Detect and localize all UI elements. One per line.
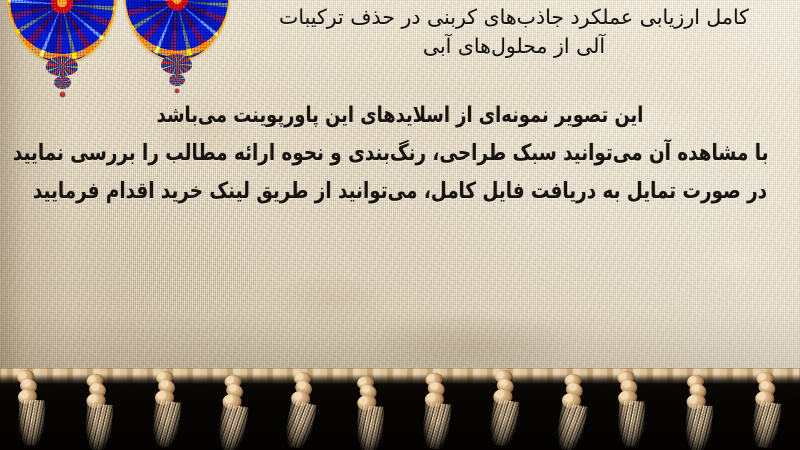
- fringe-tassel: [746, 369, 783, 450]
- slide-body-line-2: با مشاهده آن می‌توانید سبک طراحی، رنگ‌بن…: [32, 142, 769, 164]
- slide-title-line-2: آلی از محلول‌های آبی: [236, 32, 792, 61]
- slide-title-line-1: کامل ارزیابی عملکرد جاذب‌های کربنی در حذ…: [236, 3, 792, 32]
- fringe-tassel: [549, 370, 591, 450]
- slide-title: کامل ارزیابی عملکرد جاذب‌های کربنی در حذ…: [236, 3, 792, 61]
- slide-text-layer: کامل ارزیابی عملکرد جاذب‌های کربنی در حذ…: [0, 0, 800, 378]
- fringe-tassel: [77, 370, 117, 450]
- fringe-tassel: [212, 371, 252, 450]
- fringe-tassel-skirt: [150, 400, 181, 449]
- fringe-tassel-skirt: [487, 398, 520, 447]
- fringe-tassel: [417, 370, 454, 450]
- fringe-tassel-skirt: [553, 402, 588, 450]
- fringe-tassel-skirt: [282, 400, 317, 450]
- fringe-tassel: [147, 368, 183, 450]
- fringe-tassel-skirt: [618, 400, 646, 447]
- fringe-tassel: [608, 368, 650, 450]
- fringe-tassel-skirt: [18, 399, 45, 446]
- fringe-tassel-skirt: [749, 400, 781, 449]
- fringe-tassel-skirt: [355, 405, 384, 450]
- fringe-tassel-skirt: [421, 402, 452, 450]
- slide-body: این تصویر نمونه‌ای از اسلایدهای این پاور…: [8, 106, 792, 218]
- fringe-tassel: [278, 368, 322, 450]
- fringe-tassel: [347, 372, 388, 450]
- fringe-tassel: [484, 368, 523, 450]
- fringe-tassel-skirt: [84, 403, 113, 450]
- fringe-band: [0, 368, 800, 450]
- fringe-tassel: [678, 371, 717, 450]
- slide-body-line-3: در صورت تمایل به دریافت فایل کامل، می‌تو…: [32, 179, 769, 201]
- fringe-tassel-skirt: [216, 403, 249, 450]
- slide-canvas: کامل ارزیابی عملکرد جاذب‌های کربنی در حذ…: [0, 0, 800, 450]
- slide-body-line-1: این تصویر نمونه‌ای از اسلایدهای این پاور…: [32, 105, 769, 127]
- fringe-tassel-skirt: [683, 404, 713, 450]
